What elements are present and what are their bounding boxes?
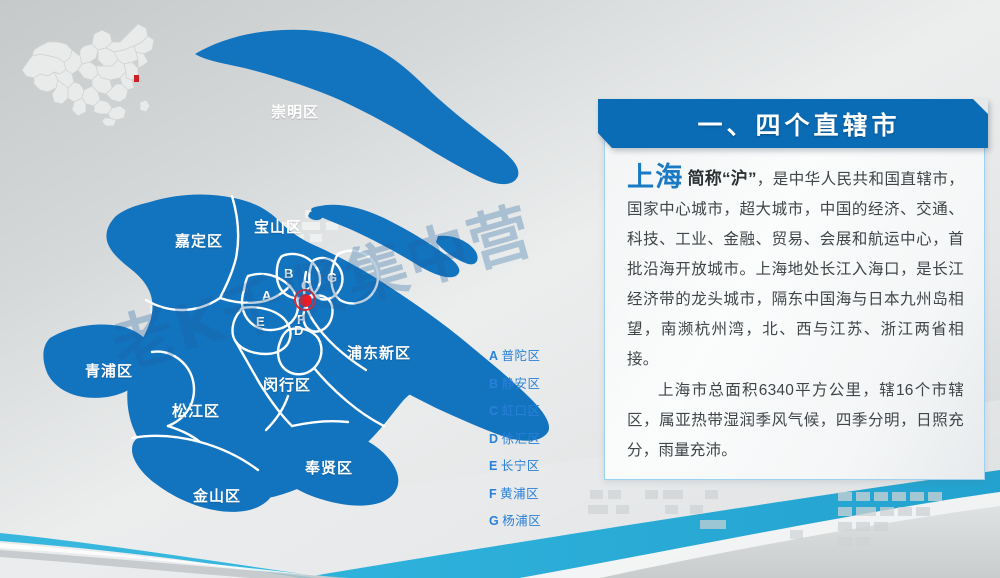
slide-stage: 崇明区 嘉定区 宝山区 浦东新区 青浦区 松江区 闵行区 金山区 奉贤区 A B… — [0, 0, 1000, 578]
legend-item-c: C虹口区 — [489, 404, 569, 418]
legend-item-g: G杨浦区 — [489, 514, 569, 528]
legend-key-f: F — [489, 487, 497, 501]
section-title: 一、四个直辖市 — [598, 99, 988, 148]
legend-item-d: D徐汇区 — [489, 432, 569, 446]
map-label-minhang: 闵行区 — [263, 374, 311, 395]
district-shape-chongming — [195, 30, 518, 184]
map-label-jiading: 嘉定区 — [175, 230, 223, 251]
map-label-qingpu: 青浦区 — [85, 360, 133, 381]
legend-item-e: E长宁区 — [489, 459, 569, 473]
map-label-pudong: 浦东新区 — [347, 342, 411, 363]
map-letter-f: F — [297, 312, 305, 327]
article-paragraph-1: 上海简称“沪”，是中华人民共和国直辖市，国家中心城市，超大城市，中国的经济、交通… — [627, 162, 964, 375]
map-letter-g: G — [327, 270, 337, 285]
legend-item-f: F黄浦区 — [489, 487, 569, 501]
article-paragraph-2: 上海市总面积6340平方公里，辖16个市辖区，属亚热带湿润季风气候，四季分明，日… — [627, 376, 964, 466]
map-letter-a: A — [262, 288, 271, 303]
legend-item-b: B静安区 — [489, 377, 569, 391]
city-name: 上海 — [627, 162, 684, 192]
legend-key-e: E — [489, 459, 498, 473]
legend-name-a: 普陀区 — [502, 349, 541, 363]
map-letter-b: B — [284, 266, 293, 281]
legend-key-g: G — [489, 514, 499, 528]
map-label-jinshan: 金山区 — [193, 485, 241, 506]
legend-name-e: 长宁区 — [501, 459, 540, 473]
legend-key-c: C — [489, 404, 499, 418]
content-panel: 上海简称“沪”，是中华人民共和国直辖市，国家中心城市，超大城市，中国的经济、交通… — [604, 110, 985, 480]
legend-name-b: 静安区 — [502, 377, 541, 391]
article-body-1: ，是中华人民共和国直辖市，国家中心城市，超大城市，中国的经济、交通、科技、工业、… — [627, 171, 964, 368]
legend-name-f: 黄浦区 — [500, 487, 539, 501]
legend-key-d: D — [489, 432, 499, 446]
map-label-chongming: 崇明区 — [271, 101, 319, 122]
map-label-songjiang: 松江区 — [172, 400, 220, 421]
map-label-fengxian: 奉贤区 — [305, 457, 353, 478]
city-alias: 简称“沪” — [688, 169, 757, 188]
legend-item-a: A普陀区 — [489, 349, 569, 363]
legend-name-c: 虹口区 — [502, 404, 541, 418]
legend-key-b: B — [489, 377, 499, 391]
district-legend: A普陀区 B静安区 C虹口区 D徐汇区 E长宁区 F黄浦区 G杨浦区 — [489, 349, 569, 542]
city-center-marker — [294, 289, 316, 311]
legend-name-d: 徐汇区 — [502, 432, 541, 446]
map-letter-e: E — [256, 314, 265, 329]
map-label-baoshan: 宝山区 — [254, 216, 302, 237]
legend-key-a: A — [489, 349, 499, 363]
legend-name-g: 杨浦区 — [502, 514, 541, 528]
